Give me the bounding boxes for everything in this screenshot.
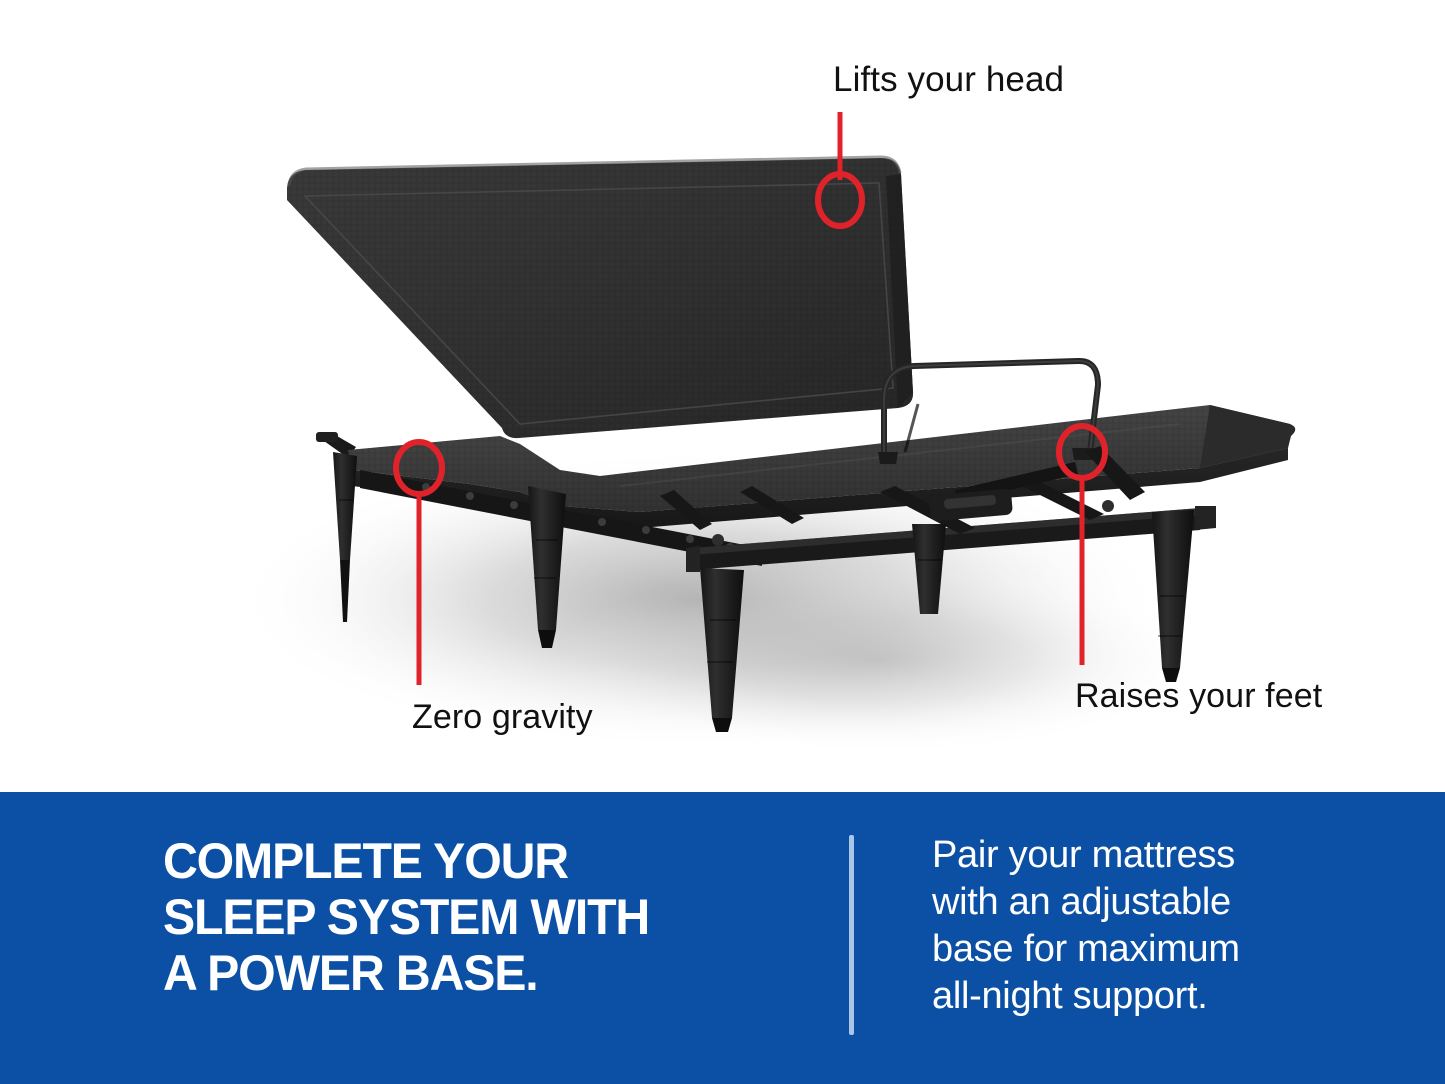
banner-headline: COMPLETE YOUR SLEEP SYSTEM WITH A POWER … — [163, 833, 781, 1001]
product-hero-image: Lifts your head Zero gravity Raises your… — [0, 0, 1445, 792]
promo-banner: COMPLETE YOUR SLEEP SYSTEM WITH A POWER … — [0, 792, 1445, 1084]
callout-label-zero-gravity: Zero gravity — [412, 697, 593, 737]
banner-subtext-line-4: all-night support. — [932, 973, 1352, 1020]
banner-subtext-line-1: Pair your mattress — [932, 832, 1352, 879]
banner-headline-line-1: COMPLETE YOUR — [163, 833, 781, 889]
banner-subtext-line-2: with an adjustable — [932, 879, 1352, 926]
banner-headline-line-3: A POWER BASE. — [163, 945, 781, 1001]
banner-subtext-line-3: base for maximum — [932, 926, 1352, 973]
callout-label-lifts-your-head: Lifts your head — [833, 60, 1064, 100]
promo-banner-page: Lifts your head Zero gravity Raises your… — [0, 0, 1445, 1084]
adjustable-bed-illustration — [0, 0, 1445, 792]
banner-subtext: Pair your mattress with an adjustable ba… — [932, 832, 1352, 1020]
banner-vertical-divider — [849, 835, 854, 1035]
banner-headline-line-2: SLEEP SYSTEM WITH — [163, 889, 781, 945]
callout-label-raises-your-feet: Raises your feet — [1075, 676, 1322, 716]
